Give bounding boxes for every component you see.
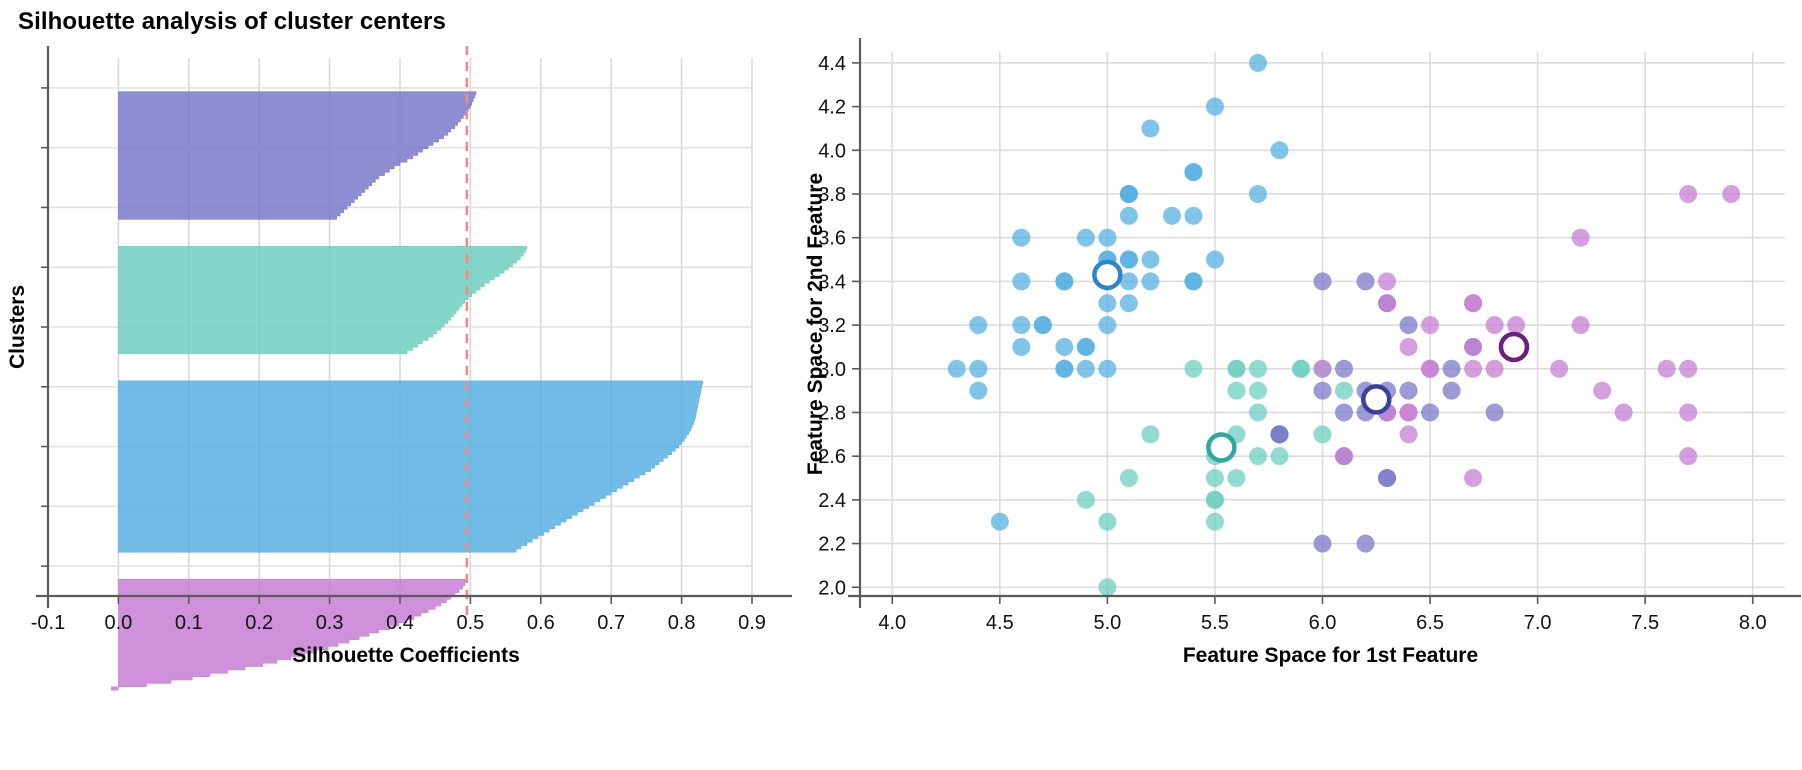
- scatter-point: [1141, 272, 1159, 290]
- scatter-point: [1120, 251, 1138, 269]
- scatter-point: [1120, 469, 1138, 487]
- y-tick-label: 4.2: [818, 97, 846, 119]
- scatter-point: [1184, 207, 1202, 225]
- scatter-point: [1098, 578, 1116, 596]
- x-tick-label: 7.0: [1524, 612, 1552, 634]
- y-tick-label: 2.0: [818, 577, 846, 599]
- scatter-point: [1400, 403, 1418, 421]
- scatter-point: [1163, 207, 1181, 225]
- x-axis-title: Feature Space for 1st Feature: [1183, 644, 1478, 667]
- x-tick-label: 0.8: [668, 612, 696, 634]
- scatter-point: [1464, 469, 1482, 487]
- scatter-point: [1335, 403, 1353, 421]
- scatter-point: [1550, 360, 1568, 378]
- scatter-point: [1464, 338, 1482, 356]
- scatter-point: [1227, 469, 1245, 487]
- scatter-point: [1679, 403, 1697, 421]
- scatter-point: [1077, 360, 1095, 378]
- scatter-point: [1184, 360, 1202, 378]
- scatter-point: [1077, 491, 1095, 509]
- scatter-point: [1400, 338, 1418, 356]
- scatter-svg: 4.04.55.05.56.06.57.07.58.02.02.22.42.62…: [800, 0, 1802, 770]
- scatter-point: [1335, 447, 1353, 465]
- y-tick-label: 4.0: [818, 140, 846, 162]
- scatter-point: [1507, 316, 1525, 334]
- scatter-point: [1314, 360, 1332, 378]
- scatter-point: [1400, 425, 1418, 443]
- scatter-point: [948, 360, 966, 378]
- scatter-point: [1206, 513, 1224, 531]
- scatter-point: [1486, 316, 1504, 334]
- center-cluster-3: [1501, 334, 1527, 360]
- silhouette-panel: -0.10.00.10.20.30.40.50.60.70.80.9Silhou…: [0, 0, 800, 770]
- scatter-point: [1141, 119, 1159, 137]
- scatter-point: [1679, 447, 1697, 465]
- x-axis-title: Silhouette Coefficients: [292, 644, 520, 667]
- scatter-point: [1615, 403, 1633, 421]
- center-cluster-2: [1094, 262, 1120, 288]
- scatter-point: [1378, 469, 1396, 487]
- scatter-point: [1012, 272, 1030, 290]
- scatter-point: [1206, 251, 1224, 269]
- scatter-point: [1249, 360, 1267, 378]
- x-tick-label: 0.4: [386, 612, 414, 634]
- scatter-point: [1335, 360, 1353, 378]
- scatter-point: [1012, 316, 1030, 334]
- x-tick-label: 0.2: [245, 612, 273, 634]
- scatter-point: [1270, 141, 1288, 159]
- scatter-point: [1679, 185, 1697, 203]
- scatter-point: [1270, 447, 1288, 465]
- center-cluster-1: [1208, 434, 1234, 460]
- x-tick-label: 6.0: [1309, 612, 1337, 634]
- scatter-point: [1421, 316, 1439, 334]
- x-tick-label: 0.9: [738, 612, 766, 634]
- scatter-point: [1572, 316, 1590, 334]
- scatter-point: [1184, 163, 1202, 181]
- scatter-point: [1593, 382, 1611, 400]
- x-tick-label: 4.0: [878, 612, 906, 634]
- scatter-point: [1270, 425, 1288, 443]
- scatter-point: [1249, 54, 1267, 72]
- scatter-point: [1120, 207, 1138, 225]
- scatter-point: [1378, 294, 1396, 312]
- scatter-point: [1206, 491, 1224, 509]
- scatter-point: [1227, 360, 1245, 378]
- scatter-point: [1055, 360, 1073, 378]
- scatter-point: [969, 382, 987, 400]
- scatter-point: [1314, 535, 1332, 553]
- x-tick-label: 6.5: [1416, 612, 1444, 634]
- scatter-point: [1227, 382, 1245, 400]
- scatter-point: [1055, 272, 1073, 290]
- x-tick-label: 0.3: [316, 612, 344, 634]
- y-axis-title: Feature Space for 2nd Feature: [804, 173, 827, 475]
- scatter-point: [1486, 360, 1504, 378]
- scatter-point: [1012, 338, 1030, 356]
- scatter-point: [1055, 338, 1073, 356]
- scatter-point: [1206, 469, 1224, 487]
- x-tick-label: 0.7: [597, 612, 625, 634]
- scatter-point: [969, 360, 987, 378]
- scatter-point: [1722, 185, 1740, 203]
- scatter-point: [1034, 316, 1052, 334]
- y-tick-label: 4.4: [818, 53, 846, 75]
- x-tick-label: 0.0: [104, 612, 132, 634]
- scatter-point: [1464, 360, 1482, 378]
- scatter-point: [1658, 360, 1676, 378]
- x-tick-label: 0.6: [527, 612, 555, 634]
- scatter-point: [1421, 403, 1439, 421]
- y-tick-label: 2.4: [818, 490, 846, 512]
- scatter-point: [1098, 316, 1116, 334]
- scatter-point: [1098, 513, 1116, 531]
- scatter-point: [969, 316, 987, 334]
- scatter-point: [1378, 272, 1396, 290]
- scatter-point: [1486, 403, 1504, 421]
- x-tick-label: 8.0: [1739, 612, 1767, 634]
- scatter-point: [1249, 185, 1267, 203]
- scatter-point: [1098, 294, 1116, 312]
- scatter-point: [1120, 294, 1138, 312]
- scatter-point: [1314, 382, 1332, 400]
- scatter-point: [991, 513, 1009, 531]
- scatter-point: [1464, 294, 1482, 312]
- figure-root: Silhouette analysis of cluster centers -…: [0, 0, 1802, 770]
- scatter-point: [1098, 360, 1116, 378]
- scatter-point: [1249, 403, 1267, 421]
- y-axis-title: Clusters: [6, 285, 29, 369]
- x-tick-label: -0.1: [31, 612, 65, 634]
- scatter-point: [1077, 338, 1095, 356]
- y-tick-label: 2.2: [818, 534, 846, 556]
- scatter-point: [1572, 229, 1590, 247]
- scatter-point: [1357, 535, 1375, 553]
- scatter-point: [1400, 316, 1418, 334]
- scatter-panel: 4.04.55.05.56.06.57.07.58.02.02.22.42.62…: [800, 0, 1802, 770]
- scatter-point: [1098, 229, 1116, 247]
- scatter-point: [1206, 98, 1224, 116]
- scatter-point: [1249, 382, 1267, 400]
- scatter-point: [1400, 382, 1418, 400]
- x-tick-label: 5.5: [1201, 612, 1229, 634]
- x-tick-label: 7.5: [1631, 612, 1659, 634]
- center-cluster-0: [1363, 386, 1389, 412]
- scatter-point: [1141, 425, 1159, 443]
- scatter-point: [1141, 251, 1159, 269]
- scatter-point: [1357, 272, 1375, 290]
- scatter-point: [1335, 382, 1353, 400]
- x-tick-label: 5.0: [1093, 612, 1121, 634]
- x-tick-label: 4.5: [986, 612, 1014, 634]
- scatter-point: [1314, 425, 1332, 443]
- scatter-point: [1077, 229, 1095, 247]
- x-tick-label: 0.1: [175, 612, 203, 634]
- scatter-point: [1314, 272, 1332, 290]
- scatter-point: [1443, 382, 1461, 400]
- scatter-point: [1249, 447, 1267, 465]
- x-tick-label: 0.5: [456, 612, 484, 634]
- silhouette-svg: -0.10.00.10.20.30.40.50.60.70.80.9Silhou…: [0, 0, 800, 770]
- scatter-point: [1292, 360, 1310, 378]
- scatter-point: [1120, 185, 1138, 203]
- scatter-point: [1443, 360, 1461, 378]
- scatter-point: [1012, 229, 1030, 247]
- scatter-point: [1679, 360, 1697, 378]
- scatter-point: [1421, 360, 1439, 378]
- scatter-point: [1184, 272, 1202, 290]
